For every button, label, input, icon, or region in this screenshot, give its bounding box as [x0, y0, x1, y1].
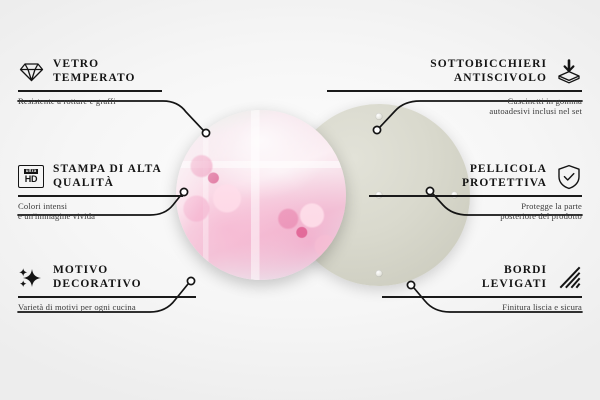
- divider: [369, 195, 582, 197]
- divider: [18, 90, 162, 92]
- feature-subtitle: Protegge la parteposteriore del prodotto: [327, 201, 582, 222]
- feature-sottobicchieri-antiscivolo: SOTTOBICCHIERIANTISCIVOLO Cuscinetti in …: [327, 58, 582, 117]
- feature-title: BORDILEVIGATI: [482, 264, 547, 291]
- press-pad-icon: [556, 59, 582, 85]
- infographic-canvas: VETROTEMPERATO Resistente a rotture e gr…: [0, 0, 600, 400]
- divider: [18, 296, 196, 298]
- shield-check-icon: [556, 164, 582, 190]
- feature-title: VETROTEMPERATO: [53, 58, 136, 85]
- feature-motivo-decorativo: MOTIVODECORATIVO Varietà di motivi per o…: [18, 264, 273, 312]
- polished-edge-icon: [556, 265, 582, 291]
- feature-title: MOTIVODECORATIVO: [53, 264, 142, 291]
- feature-subtitle: Resistente a rotture e graffi: [18, 96, 273, 107]
- feature-vetro-temperato: VETROTEMPERATO Resistente a rotture e gr…: [18, 58, 273, 106]
- feature-pellicola-protettiva: PELLICOLAPROTETTIVA Protegge la partepos…: [327, 163, 582, 222]
- feature-subtitle: Varietà di motivi per ogni cucina: [18, 302, 273, 313]
- feature-subtitle: Colori intensie un'immagine vivida: [18, 201, 273, 222]
- ultra-hd-icon: ultra HD: [18, 164, 44, 190]
- feature-bordi-levigati: BORDILEVIGATI Finitura liscia e sicura: [327, 264, 582, 312]
- divider: [382, 296, 582, 298]
- diamond-icon: [18, 59, 44, 85]
- divider: [18, 195, 183, 197]
- feature-stampa-alta-qualita: ultra HD STAMPA DI ALTAQUALITÀ Colori in…: [18, 163, 273, 222]
- sparkles-icon: [18, 265, 44, 291]
- feature-title: STAMPA DI ALTAQUALITÀ: [53, 163, 162, 190]
- feature-subtitle: Finitura liscia e sicura: [327, 302, 582, 313]
- feature-title: PELLICOLAPROTETTIVA: [462, 163, 547, 190]
- divider: [327, 90, 582, 92]
- feature-title: SOTTOBICCHIERIANTISCIVOLO: [430, 58, 547, 85]
- feature-subtitle: Cuscinetti in gommaautoadesivi inclusi n…: [327, 96, 582, 117]
